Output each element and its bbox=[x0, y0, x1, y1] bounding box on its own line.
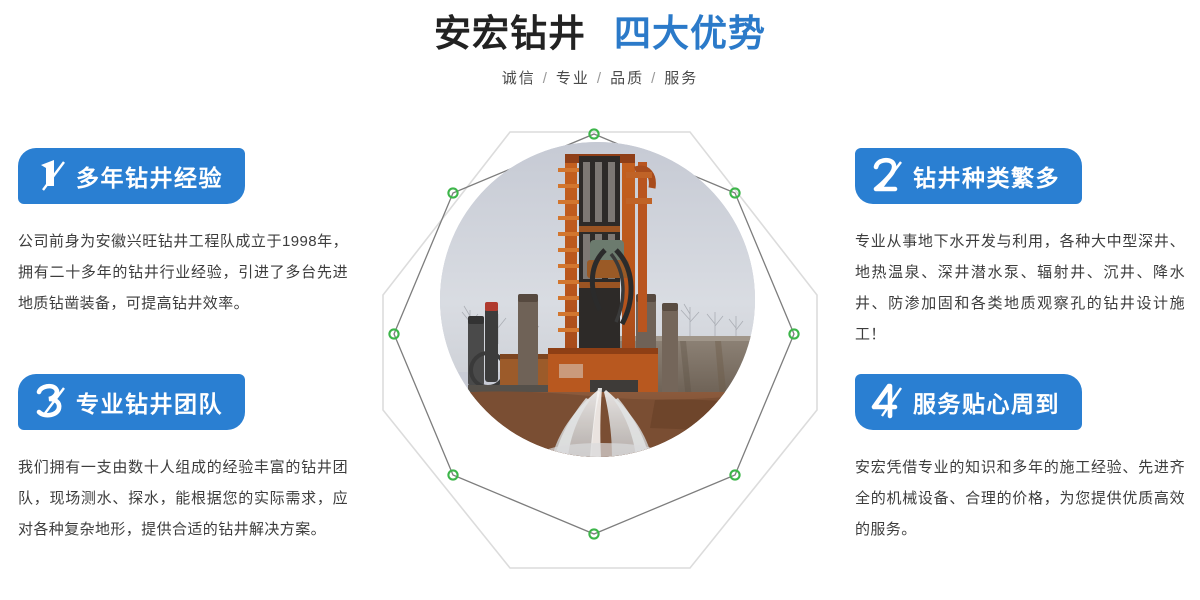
feature-card-3: 专业钻井团队 我们拥有一支由数十人组成的经验丰富的钻井团队，现场测水、探水，能根… bbox=[18, 374, 348, 545]
feature-badge-label-3: 专业钻井团队 bbox=[76, 385, 223, 419]
subtitle-item-2: 品质 bbox=[610, 70, 644, 87]
subtitle-item-3: 服务 bbox=[664, 70, 698, 87]
feature-badge-label-1: 多年钻井经验 bbox=[76, 159, 223, 193]
drilling-rig-photo bbox=[440, 142, 755, 457]
number-1-icon bbox=[32, 156, 70, 196]
feature-badge-1: 多年钻井经验 bbox=[18, 148, 245, 204]
number-3-icon bbox=[32, 382, 70, 422]
feature-body-4: 安宏凭借专业的知识和多年的施工经验、先进齐全的机械设备、合理的价格，为您提供优质… bbox=[855, 452, 1185, 545]
number-4-icon bbox=[869, 382, 907, 422]
page-title: 安宏钻井四大优势 bbox=[0, 10, 1200, 57]
title-main-text: 安宏钻井 bbox=[434, 13, 586, 54]
subtitle-keywords: 诚信/专业/品质/服务 bbox=[0, 67, 1200, 88]
center-graphic bbox=[370, 110, 830, 590]
feature-card-1: 多年钻井经验 公司前身为安徽兴旺钻井工程队成立于1998年，拥有二十多年的钻井行… bbox=[18, 148, 348, 319]
subtitle-separator-2: / bbox=[651, 70, 657, 87]
feature-body-1: 公司前身为安徽兴旺钻井工程队成立于1998年，拥有二十多年的钻井行业经验，引进了… bbox=[18, 226, 348, 319]
page-header: 安宏钻井四大优势 诚信/专业/品质/服务 bbox=[0, 10, 1200, 88]
title-accent-text: 四大优势 bbox=[614, 13, 766, 54]
subtitle-separator-1: / bbox=[597, 70, 603, 87]
subtitle-item-1: 专业 bbox=[556, 70, 590, 87]
feature-body-3: 我们拥有一支由数十人组成的经验丰富的钻井团队，现场测水、探水，能根据您的实际需求… bbox=[18, 452, 348, 545]
subtitle-item-0: 诚信 bbox=[502, 70, 536, 87]
feature-badge-label-2: 钻井种类繁多 bbox=[913, 159, 1060, 193]
page-root: 安宏钻井四大优势 诚信/专业/品质/服务 bbox=[0, 0, 1200, 600]
feature-body-2: 专业从事地下水开发与利用，各种大中型深井、地热温泉、深井潜水泵、辐射井、沉井、降… bbox=[855, 226, 1185, 350]
feature-card-4: 服务贴心周到 安宏凭借专业的知识和多年的施工经验、先进齐全的机械设备、合理的价格… bbox=[855, 374, 1185, 545]
feature-badge-4: 服务贴心周到 bbox=[855, 374, 1082, 430]
number-2-icon bbox=[869, 156, 907, 196]
feature-card-2: 钻井种类繁多 专业从事地下水开发与利用，各种大中型深井、地热温泉、深井潜水泵、辐… bbox=[855, 148, 1185, 350]
feature-badge-label-4: 服务贴心周到 bbox=[913, 385, 1060, 419]
feature-badge-2: 钻井种类繁多 bbox=[855, 148, 1082, 204]
subtitle-separator-0: / bbox=[543, 70, 549, 87]
feature-badge-3: 专业钻井团队 bbox=[18, 374, 245, 430]
